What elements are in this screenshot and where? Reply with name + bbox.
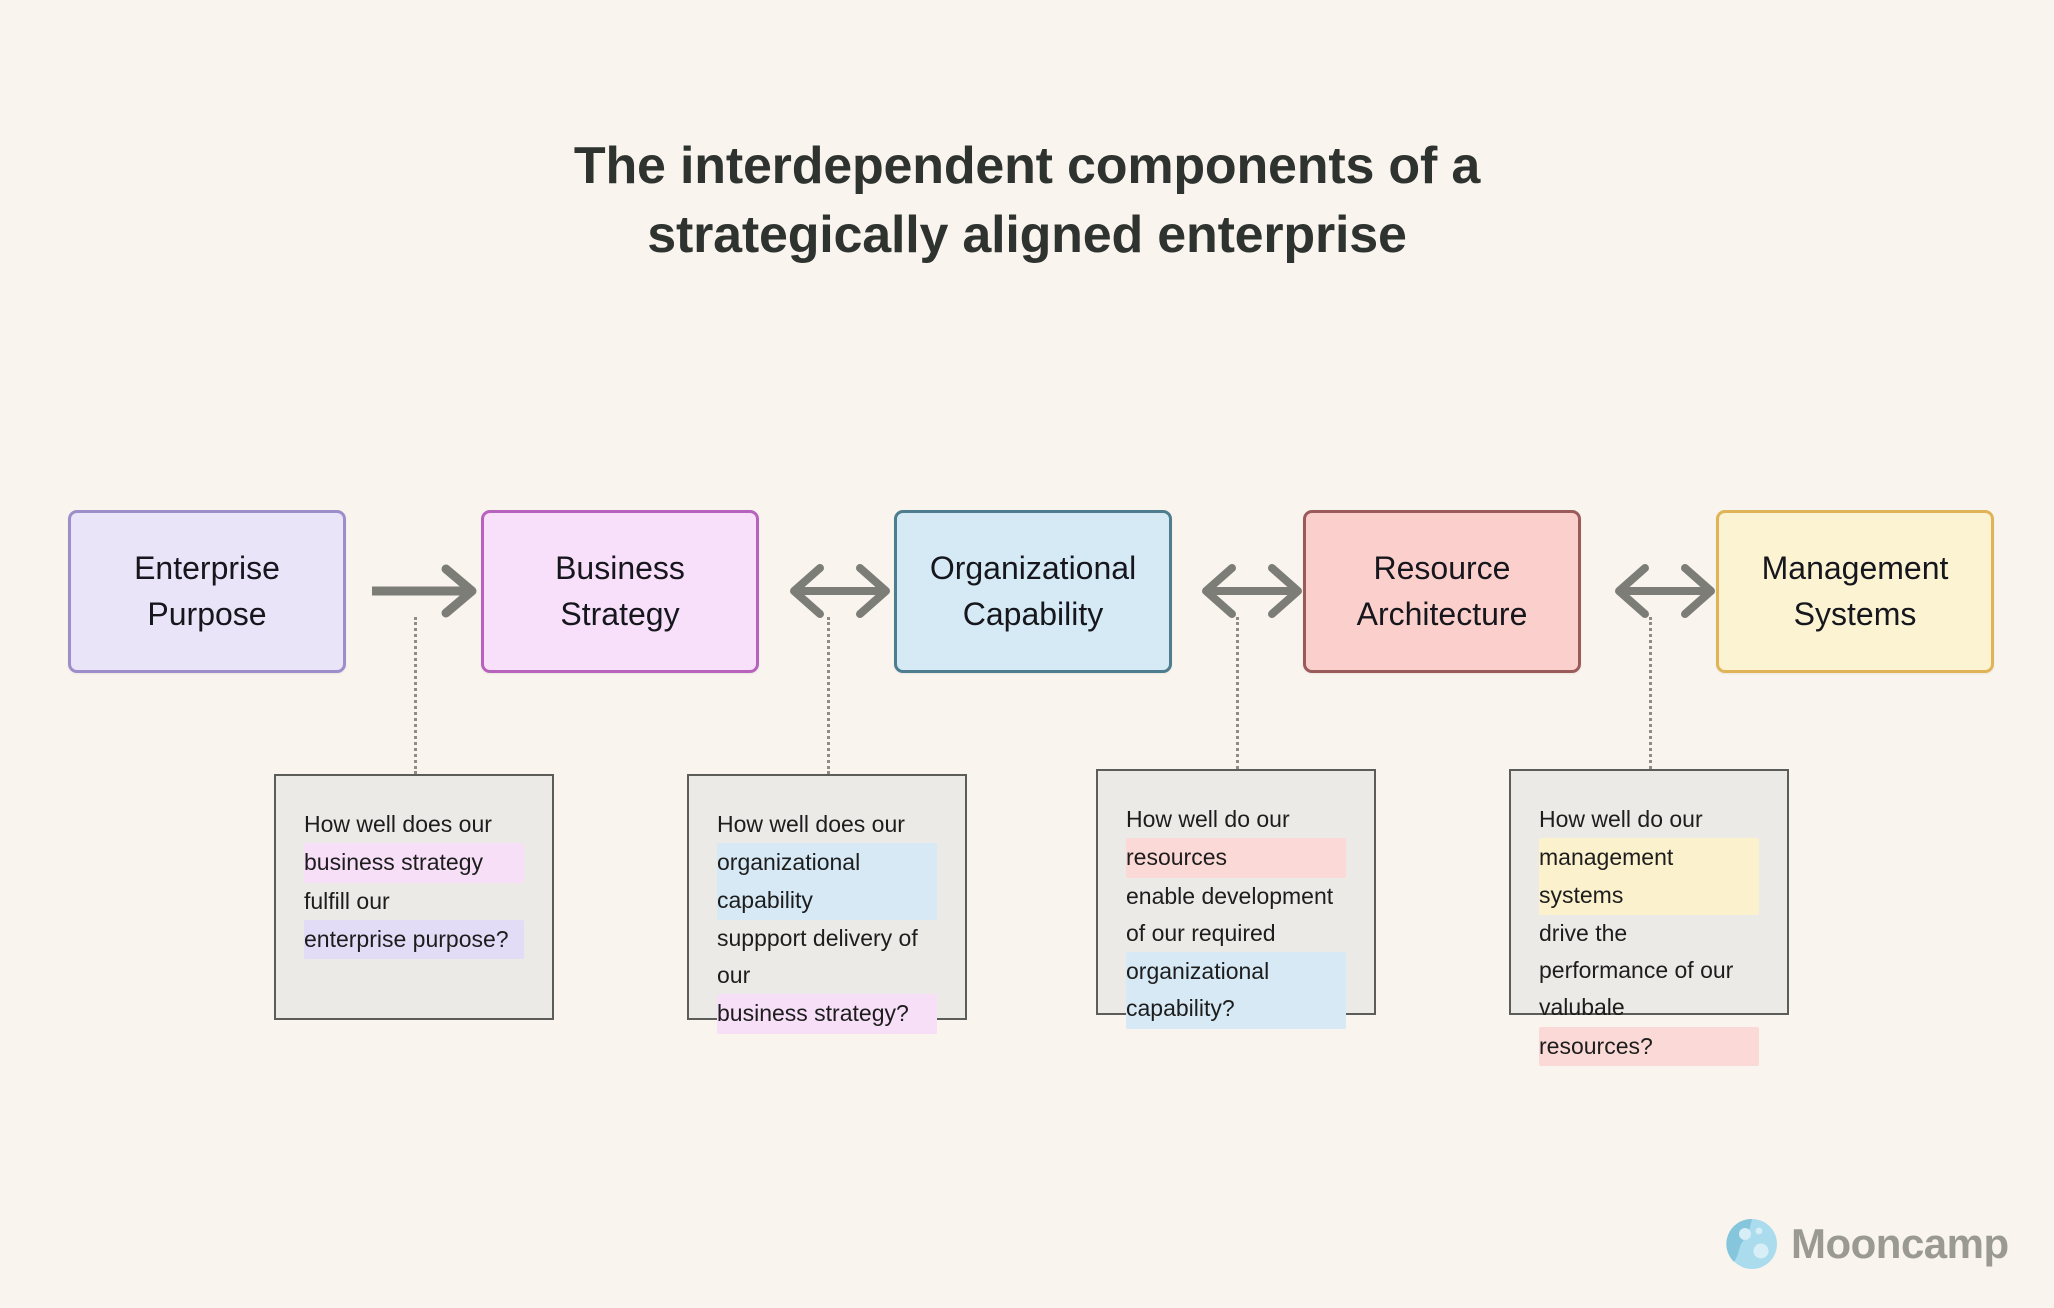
annotation-note-enterprise-purpose: How well does our business strategy fulf… <box>274 774 554 1020</box>
dotted-connector-line <box>1236 617 1239 769</box>
component-box-enterprise-purpose[interactable]: Enterprise Purpose <box>68 510 346 673</box>
mooncamp-wordmark: Mooncamp <box>1791 1223 2009 1265</box>
note-segment-highlight-organizational-capability: organizational capability? <box>1126 952 1346 1029</box>
component-box-organizational-capability[interactable]: Organizational Capability <box>894 510 1172 673</box>
component-label-line-1: Organizational <box>930 546 1136 591</box>
mooncamp-logo: Mooncamp <box>1726 1218 2009 1270</box>
component-label-line-1: Management <box>1762 546 1949 591</box>
page-title-line-2: strategically aligned enterprise <box>0 201 2054 270</box>
diagram-canvas: The interdependent components of a strat… <box>0 0 2054 1308</box>
page-title-line-1: The interdependent components of a <box>0 132 2054 201</box>
component-label-line-2: Strategy <box>555 592 685 637</box>
arrow-bidirectional-icon <box>780 562 900 620</box>
arrow-bidirectional-icon <box>1605 562 1725 620</box>
note-segment-plain: How well does our <box>304 806 524 843</box>
component-label-line-1: Business <box>555 546 685 591</box>
note-segment-highlight-resources: resources? <box>1539 1027 1759 1066</box>
note-segment-highlight-business-strategy: business strategy <box>304 843 524 882</box>
arrow-right-icon <box>370 562 490 620</box>
note-segment-highlight-management-systems: management systems <box>1539 838 1759 915</box>
annotation-note-business-strategy: How well does our organizational capabil… <box>687 774 967 1020</box>
component-box-management-systems[interactable]: Management Systems <box>1716 510 1994 673</box>
note-segment-plain: fulfill our <box>304 883 524 920</box>
note-segment-plain: suppport delivery of our <box>717 920 937 995</box>
component-label-line-2: Systems <box>1762 592 1949 637</box>
note-segment-plain: How well does our <box>717 806 937 843</box>
note-segment-plain: drive the performance of our valubale <box>1539 915 1759 1027</box>
dotted-connector-line <box>827 617 830 774</box>
dotted-connector-line <box>1649 617 1652 769</box>
note-segment-highlight-organizational-capability: organizational capability <box>717 843 937 920</box>
component-label-line-1: Enterprise <box>134 546 280 591</box>
note-segment-highlight-business-strategy: business strategy? <box>717 994 937 1033</box>
note-segment-highlight-enterprise-purpose: enterprise purpose? <box>304 920 524 959</box>
page-title: The interdependent components of a strat… <box>0 132 2054 269</box>
note-segment-plain: How well do our <box>1539 801 1759 838</box>
dotted-connector-line <box>414 617 417 774</box>
component-label-line-2: Capability <box>930 592 1136 637</box>
component-label-line-2: Architecture <box>1357 592 1528 637</box>
note-segment-highlight-resources: resources <box>1126 838 1346 877</box>
note-segment-plain: enable development of our required <box>1126 878 1346 953</box>
arrow-bidirectional-icon <box>1192 562 1312 620</box>
moon-icon <box>1726 1218 1778 1270</box>
annotation-note-resource-architecture: How well do our management systems drive… <box>1509 769 1789 1015</box>
component-box-business-strategy[interactable]: Business Strategy <box>481 510 759 673</box>
component-label-line-1: Resource <box>1357 546 1528 591</box>
note-segment-plain: How well do our <box>1126 801 1346 838</box>
annotation-note-organizational-capability: How well do our resources enable develop… <box>1096 769 1376 1015</box>
component-box-resource-architecture[interactable]: Resource Architecture <box>1303 510 1581 673</box>
component-label-line-2: Purpose <box>134 592 280 637</box>
